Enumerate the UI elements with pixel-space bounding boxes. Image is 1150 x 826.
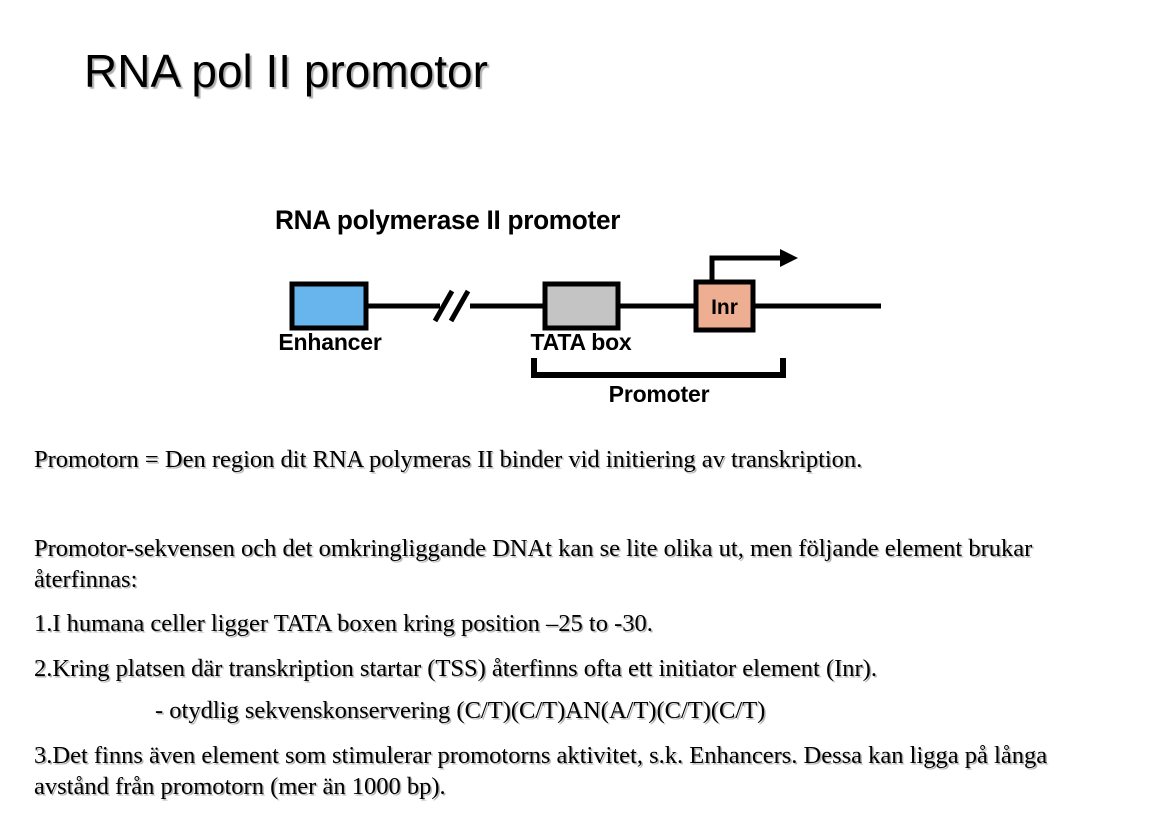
transcription-start-arrowhead-icon — [780, 249, 798, 267]
tata-box-label: TATA box — [530, 329, 631, 355]
inr-box-label: Inr — [711, 296, 738, 319]
promoter-diagram-svg: Enhancer TATA box Inr Promoter — [0, 195, 1150, 420]
break-slash-icon-2 — [451, 291, 468, 321]
definition-paragraph: Promotorn = Den region dit RNA polymeras… — [34, 444, 1114, 475]
intro-paragraph: Promotor-sekvensen och det omkringliggan… — [34, 533, 1099, 595]
promoter-bracket-icon — [534, 358, 783, 375]
list-item: 2.Kring platsen där transkription starta… — [34, 653, 1114, 684]
enhancer-box-shape — [292, 284, 366, 328]
list-item: 1.I humana celler ligger TATA boxen krin… — [34, 608, 1114, 639]
promoter-bracket-label: Promoter — [609, 381, 710, 407]
transcription-start-arrow-icon — [712, 258, 785, 280]
list-item-sub: - otydlig sekvenskonservering (C/T)(C/T)… — [155, 695, 1115, 726]
list-item: 3.Det finns även element som stimulerar … — [34, 740, 1119, 802]
tata-box-shape — [545, 284, 618, 328]
page-title: RNA pol II promotor — [84, 44, 488, 98]
enhancer-label: Enhancer — [278, 329, 381, 355]
promoter-diagram: RNA polymerase II promoter Enhancer TATA… — [0, 195, 1150, 420]
